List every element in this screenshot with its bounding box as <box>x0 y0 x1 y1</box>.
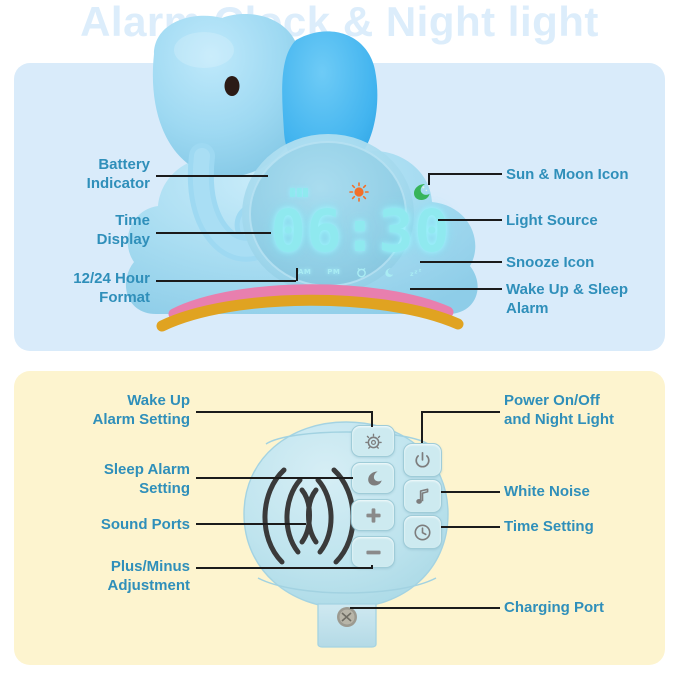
label-charging-port: Charging Port <box>504 598 679 617</box>
leader-sun-moon-v <box>428 173 430 185</box>
minus-button[interactable] <box>351 536 395 568</box>
leader-light-source <box>438 219 502 221</box>
label-power-night-light: Power On/Off and Night Light <box>504 391 679 429</box>
time-display-value: 06:30 <box>271 202 451 260</box>
leader-time-display <box>156 232 271 234</box>
leader-hour-format-v <box>296 268 298 281</box>
label-sleep-alarm-setting: Sleep Alarm Setting <box>10 460 190 498</box>
alarm-icon <box>356 267 367 278</box>
alarm-clock-icon <box>364 432 383 451</box>
music-button[interactable] <box>403 479 442 513</box>
snooze-z-icon: z z z <box>410 267 424 278</box>
svg-text:z: z <box>414 269 417 275</box>
power-button[interactable] <box>403 443 442 477</box>
leader-white-noise <box>441 491 500 493</box>
label-wake-sleep-alarm: Wake Up & Sleep Alarm <box>506 280 676 318</box>
leader-wake-up-alarm-v <box>371 411 373 427</box>
sleep-button[interactable] <box>351 462 395 494</box>
leader-power-night-light-v <box>421 411 423 443</box>
leader-hour-format <box>156 280 296 282</box>
plus-button[interactable] <box>351 499 395 531</box>
label-plus-minus-adjustment: Plus/Minus Adjustment <box>10 557 190 595</box>
label-sound-ports: Sound Ports <box>10 515 190 534</box>
moon-icon <box>364 469 383 488</box>
clock-icon <box>413 523 432 542</box>
leader-time-setting <box>441 526 500 528</box>
alarm-button[interactable] <box>351 425 395 457</box>
infographic-root: Alarm Clock & Night light <box>0 0 679 674</box>
label-time-setting: Time Setting <box>504 517 679 536</box>
label-hour-format: 12/24 Hour Format <box>10 269 150 307</box>
label-white-noise: White Noise <box>504 482 679 501</box>
leader-charging-port <box>350 607 500 609</box>
leader-battery-indicator <box>156 175 268 177</box>
leader-sleep-alarm-setting <box>196 477 353 479</box>
leader-snooze-icon <box>420 261 502 263</box>
battery-indicator-icon <box>290 188 308 197</box>
plus-icon <box>365 507 382 524</box>
power-icon <box>413 451 432 470</box>
leader-wake-sleep-alarm <box>410 288 502 290</box>
leader-power-night-light <box>421 411 500 413</box>
leader-plus-minus-adjustment <box>196 567 372 569</box>
music-note-icon <box>414 487 431 506</box>
minus-icon <box>365 544 382 561</box>
am-indicator: AM <box>298 268 311 276</box>
label-battery-indicator: Battery Indicator <box>10 155 150 193</box>
leader-sound-ports <box>196 523 306 525</box>
label-snooze-icon: Snooze Icon <box>506 253 676 272</box>
svg-text:z: z <box>419 268 422 273</box>
pm-indicator: PM <box>327 268 340 276</box>
label-wake-up-alarm-setting: Wake Up Alarm Setting <box>10 391 190 429</box>
leader-sun-moon-icon <box>428 173 502 175</box>
label-light-source: Light Source <box>506 211 676 230</box>
svg-text:z: z <box>410 271 414 278</box>
leader-wake-up-alarm-setting <box>196 411 372 413</box>
label-sun-moon-icon: Sun & Moon Icon <box>506 165 676 184</box>
leader-plus-minus-v <box>371 565 373 569</box>
moon-small-icon <box>383 267 394 278</box>
clock-button[interactable] <box>403 515 442 549</box>
label-time-display: Time Display <box>10 211 150 249</box>
